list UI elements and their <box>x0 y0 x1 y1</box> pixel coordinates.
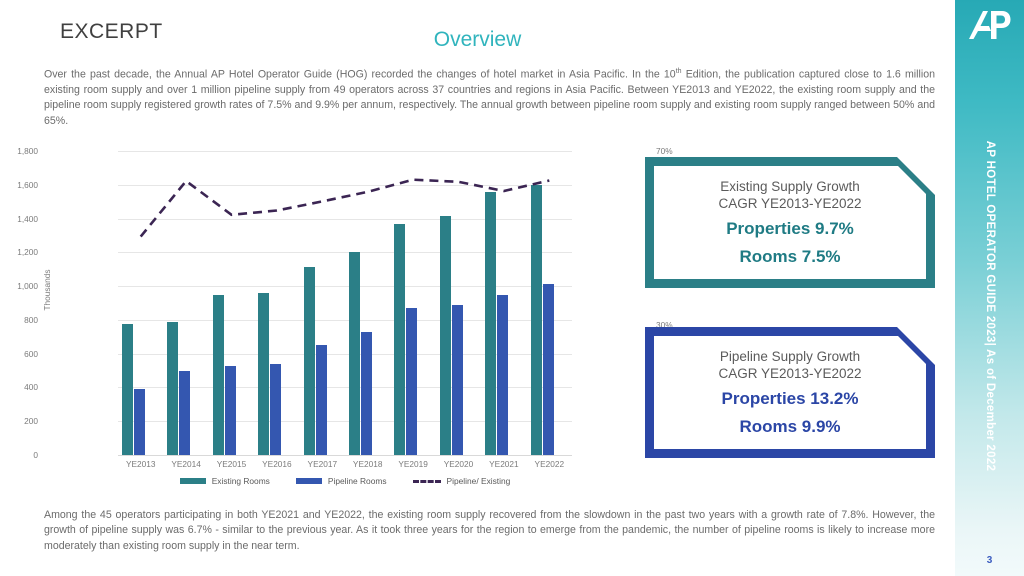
y-axis-tick-label: 0 <box>0 450 38 460</box>
y-axis-tick-label: 1,000 <box>0 281 38 291</box>
callout-existing-supply: Existing Supply Growth CAGR YE2013-YE202… <box>645 157 935 288</box>
y-axis-title: Thousands <box>42 269 52 310</box>
y-axis-tick-label: 400 <box>0 382 38 392</box>
legend-label: Pipeline/ Existing <box>447 476 511 486</box>
x-axis-tick-label: YE2022 <box>519 459 579 469</box>
y-axis-tick-label: 800 <box>0 315 38 325</box>
y-axis-tick-label: 1,600 <box>0 180 38 190</box>
legend-swatch <box>413 480 441 483</box>
callout-metric-rooms: Rooms 7.5% <box>739 246 840 268</box>
y-axis-tick-label: 600 <box>0 349 38 359</box>
secondary-y-axis-tick-label: 70% <box>656 146 696 156</box>
supply-chart: Thousands 02004006008001,0001,2001,4001,… <box>44 140 624 495</box>
callout-frame: Pipeline Supply Growth CAGR YE2013-YE202… <box>645 327 935 458</box>
ratio-line-series <box>118 151 572 455</box>
callout-inner-panel: Existing Supply Growth CAGR YE2013-YE202… <box>654 166 926 279</box>
intro-paragraph: Over the past decade, the Annual AP Hote… <box>44 64 935 129</box>
callout-metric-properties: Properties 9.7% <box>726 218 854 240</box>
y-axis-tick-label: 200 <box>0 416 38 426</box>
callout-title-line2: CAGR YE2013-YE2022 <box>718 195 861 212</box>
chart-legend: Existing RoomsPipeline RoomsPipeline/ Ex… <box>118 476 572 486</box>
y-axis-tick-label: 1,800 <box>0 146 38 156</box>
right-sidebar: AP HOTEL OPERATOR GUIDE 2023| As of Dece… <box>955 0 1024 576</box>
page-number: 3 <box>955 555 1024 566</box>
callout-metric-properties: Properties 13.2% <box>721 388 858 410</box>
sidebar-vertical-title: AP HOTEL OPERATOR GUIDE 2023| As of Dece… <box>984 141 996 471</box>
legend-item: Pipeline/ Existing <box>413 476 511 486</box>
gridline <box>118 455 572 456</box>
legend-label: Existing Rooms <box>212 476 270 486</box>
callout-frame: Existing Supply Growth CAGR YE2013-YE202… <box>645 157 935 288</box>
legend-item: Existing Rooms <box>180 476 270 486</box>
legend-swatch <box>296 478 322 484</box>
callout-inner-panel: Pipeline Supply Growth CAGR YE2013-YE202… <box>654 336 926 449</box>
callout-title-line2: CAGR YE2013-YE2022 <box>718 365 861 382</box>
callout-pipeline-supply: Pipeline Supply Growth CAGR YE2013-YE202… <box>645 327 935 458</box>
callout-title-line1: Pipeline Supply Growth <box>720 348 860 365</box>
ap-logo-icon <box>967 6 1011 46</box>
chart-plot-area: 02004006008001,0001,2001,4001,6001,800 0… <box>118 151 572 455</box>
y-axis-tick-label: 1,400 <box>0 214 38 224</box>
legend-swatch <box>180 478 206 484</box>
legend-item: Pipeline Rooms <box>296 476 387 486</box>
callout-title-line1: Existing Supply Growth <box>720 178 860 195</box>
section-title: Overview <box>0 28 955 52</box>
legend-label: Pipeline Rooms <box>328 476 387 486</box>
outro-paragraph: Among the 45 operators participating in … <box>44 508 935 554</box>
y-axis-tick-label: 1,200 <box>0 247 38 257</box>
callout-metric-rooms: Rooms 9.9% <box>739 416 840 438</box>
